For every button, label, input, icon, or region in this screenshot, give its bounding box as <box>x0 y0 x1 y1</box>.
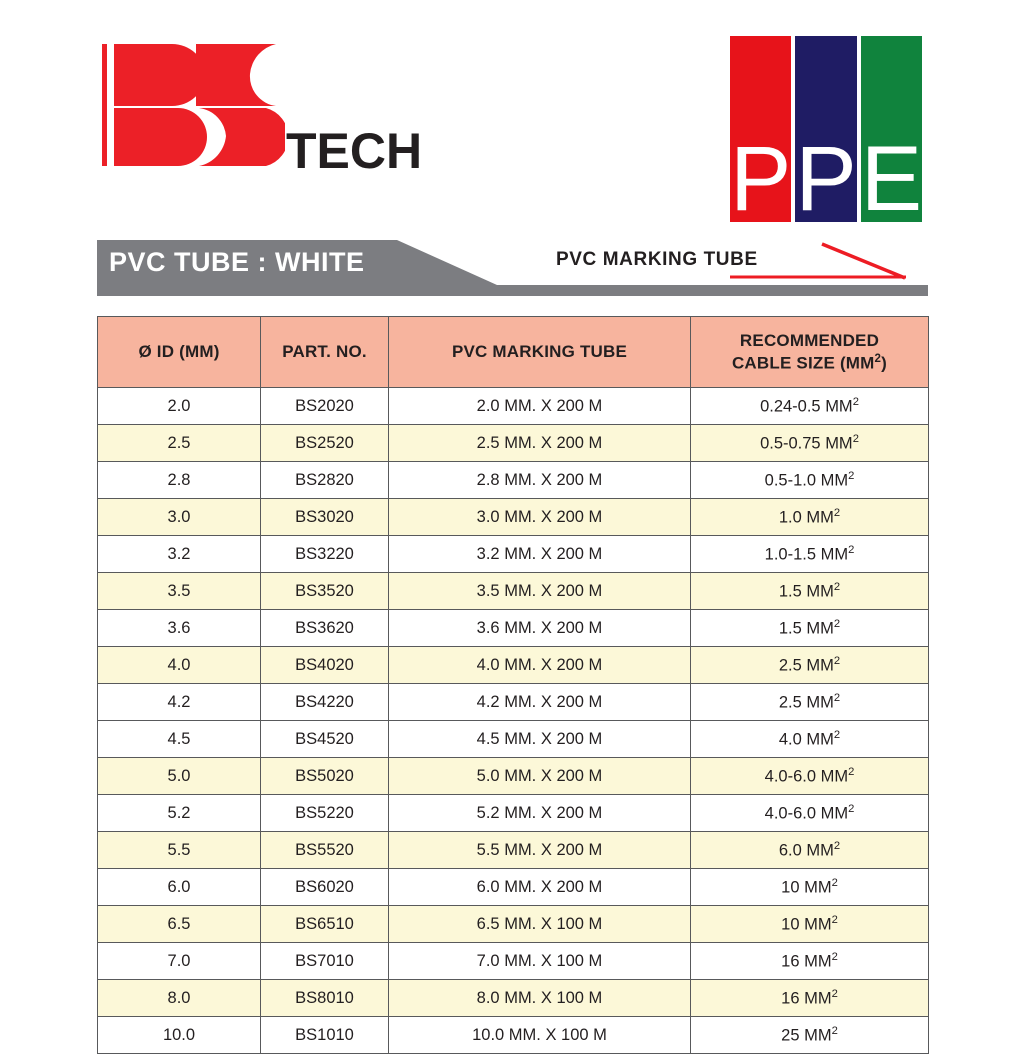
cell-tube: 6.5 MM. X 100 M <box>389 906 691 943</box>
cell-part: BS5220 <box>261 795 389 832</box>
cell-size: 0.24-0.5 MM2 <box>691 388 929 425</box>
bs-monogram-icon <box>100 40 285 170</box>
cell-id: 8.0 <box>98 980 261 1017</box>
cell-size-value: 2.5 MM <box>779 656 834 674</box>
section-banner: PVC TUBE : WHITE PVC MARKING TUBE <box>0 240 1024 296</box>
table-body: 2.0BS20202.0 MM. X 200 M0.24-0.5 MM22.5B… <box>98 388 929 1054</box>
cell-part: BS5020 <box>261 758 389 795</box>
cell-tube: 5.0 MM. X 200 M <box>389 758 691 795</box>
cell-part: BS7010 <box>261 943 389 980</box>
cell-size-value: 4.0-6.0 MM <box>765 767 848 785</box>
table-row: 3.5BS35203.5 MM. X 200 M1.5 MM2 <box>98 573 929 610</box>
table-row: 6.0BS60206.0 MM. X 200 M10 MM2 <box>98 869 929 906</box>
cell-size: 16 MM2 <box>691 943 929 980</box>
cell-id: 10.0 <box>98 1017 261 1054</box>
cell-id: 3.2 <box>98 536 261 573</box>
table-row: 4.2BS42204.2 MM. X 200 M2.5 MM2 <box>98 684 929 721</box>
cell-size-value: 0.5-1.0 MM <box>765 471 848 489</box>
cell-size: 1.5 MM2 <box>691 610 929 647</box>
cell-size-superscript: 2 <box>834 507 840 519</box>
cell-tube: 4.0 MM. X 200 M <box>389 647 691 684</box>
cell-tube: 6.0 MM. X 200 M <box>389 869 691 906</box>
cell-tube: 10.0 MM. X 100 M <box>389 1017 691 1054</box>
pvc-tube-spec-table: Ø ID (MM) PART. NO. PVC MARKING TUBE REC… <box>97 316 929 1054</box>
cell-size: 10 MM2 <box>691 906 929 943</box>
column-header-cable-size: RECOMMENDED CABLE SIZE (MM2) <box>691 317 929 388</box>
cell-size-value: 16 MM <box>781 952 831 970</box>
table-header-row: Ø ID (MM) PART. NO. PVC MARKING TUBE REC… <box>98 317 929 388</box>
cell-tube: 3.5 MM. X 200 M <box>389 573 691 610</box>
cell-tube: 2.5 MM. X 200 M <box>389 425 691 462</box>
table-row: 2.8BS28202.8 MM. X 200 M0.5-1.0 MM2 <box>98 462 929 499</box>
cell-tube: 3.2 MM. X 200 M <box>389 536 691 573</box>
cell-tube: 7.0 MM. X 100 M <box>389 943 691 980</box>
table-row: 6.5BS65106.5 MM. X 100 M10 MM2 <box>98 906 929 943</box>
cell-size-value: 4.0-6.0 MM <box>765 804 848 822</box>
cell-id: 5.2 <box>98 795 261 832</box>
cell-id: 4.5 <box>98 721 261 758</box>
table-row: 3.6BS36203.6 MM. X 200 M1.5 MM2 <box>98 610 929 647</box>
cell-id: 2.8 <box>98 462 261 499</box>
cell-part: BS8010 <box>261 980 389 1017</box>
cell-id: 7.0 <box>98 943 261 980</box>
cell-id: 2.0 <box>98 388 261 425</box>
cell-size-value: 0.5-0.75 MM <box>760 434 853 452</box>
cell-id: 3.0 <box>98 499 261 536</box>
ppe-column-navy: P <box>795 36 856 222</box>
cell-part: BS3220 <box>261 536 389 573</box>
cell-size: 4.0-6.0 MM2 <box>691 795 929 832</box>
column-header-marking-tube: PVC MARKING TUBE <box>389 317 691 388</box>
ppe-logo: P P E <box>730 36 920 222</box>
cell-size-superscript: 2 <box>832 988 838 1000</box>
banner-title-block: PVC TUBE : WHITE <box>97 240 497 285</box>
cell-size: 4.0 MM2 <box>691 721 929 758</box>
cell-size-superscript: 2 <box>848 470 854 482</box>
cell-size: 2.5 MM2 <box>691 647 929 684</box>
cell-size-value: 25 MM <box>781 1026 831 1044</box>
cell-size: 2.5 MM2 <box>691 684 929 721</box>
cell-size: 10 MM2 <box>691 869 929 906</box>
cell-id: 5.5 <box>98 832 261 869</box>
cell-id: 3.5 <box>98 573 261 610</box>
cell-size: 0.5-1.0 MM2 <box>691 462 929 499</box>
bs-tech-wordmark: TECH <box>286 126 422 176</box>
table-row: 4.5BS45204.5 MM. X 200 M4.0 MM2 <box>98 721 929 758</box>
cell-part: BS2520 <box>261 425 389 462</box>
cell-size-superscript: 2 <box>853 433 859 445</box>
cell-size-superscript: 2 <box>848 803 854 815</box>
cell-size: 1.5 MM2 <box>691 573 929 610</box>
cell-tube: 4.5 MM. X 200 M <box>389 721 691 758</box>
cell-part: BS6510 <box>261 906 389 943</box>
cell-tube: 8.0 MM. X 100 M <box>389 980 691 1017</box>
cable-size-line2: CABLE SIZE (MM <box>732 353 875 372</box>
cell-size-superscript: 2 <box>832 914 838 926</box>
column-header-part-no: PART. NO. <box>261 317 389 388</box>
cell-part: BS5520 <box>261 832 389 869</box>
cell-size: 1.0-1.5 MM2 <box>691 536 929 573</box>
cell-part: BS6020 <box>261 869 389 906</box>
banner-title: PVC TUBE : WHITE <box>97 247 365 278</box>
table-row: 2.0BS20202.0 MM. X 200 M0.24-0.5 MM2 <box>98 388 929 425</box>
cell-size-superscript: 2 <box>853 396 859 408</box>
cell-tube: 5.5 MM. X 200 M <box>389 832 691 869</box>
cell-part: BS3620 <box>261 610 389 647</box>
cell-size: 6.0 MM2 <box>691 832 929 869</box>
table-row: 3.0BS30203.0 MM. X 200 M1.0 MM2 <box>98 499 929 536</box>
table-row: 8.0BS80108.0 MM. X 100 M16 MM2 <box>98 980 929 1017</box>
cell-size: 16 MM2 <box>691 980 929 1017</box>
cell-size-superscript: 2 <box>832 1025 838 1037</box>
cell-size-superscript: 2 <box>834 581 840 593</box>
table-row: 5.5BS55205.5 MM. X 200 M6.0 MM2 <box>98 832 929 869</box>
cell-size-superscript: 2 <box>834 655 840 667</box>
cell-part: BS4020 <box>261 647 389 684</box>
cell-size-superscript: 2 <box>834 840 840 852</box>
cell-id: 3.6 <box>98 610 261 647</box>
ppe-column-red: P <box>730 36 791 222</box>
red-angle-accent-icon <box>700 240 930 285</box>
cell-size-superscript: 2 <box>834 692 840 704</box>
ppe-letter-1: P <box>730 137 791 222</box>
cell-part: BS3020 <box>261 499 389 536</box>
table-row: 2.5BS25202.5 MM. X 200 M0.5-0.75 MM2 <box>98 425 929 462</box>
cell-size-superscript: 2 <box>832 951 838 963</box>
cell-id: 4.0 <box>98 647 261 684</box>
cell-tube: 5.2 MM. X 200 M <box>389 795 691 832</box>
cable-size-line1: RECOMMENDED <box>740 331 879 350</box>
cell-size-value: 1.5 MM <box>779 582 834 600</box>
cell-size: 25 MM2 <box>691 1017 929 1054</box>
cell-id: 5.0 <box>98 758 261 795</box>
header-logo-row: TECH P P E <box>0 0 1024 236</box>
cell-size: 1.0 MM2 <box>691 499 929 536</box>
cell-part: BS4520 <box>261 721 389 758</box>
cell-size-value: 1.5 MM <box>779 619 834 637</box>
cell-size-superscript: 2 <box>834 618 840 630</box>
cell-size-value: 2.5 MM <box>779 693 834 711</box>
cell-size-value: 4.0 MM <box>779 730 834 748</box>
table-row: 5.0BS50205.0 MM. X 200 M4.0-6.0 MM2 <box>98 758 929 795</box>
cell-size: 0.5-0.75 MM2 <box>691 425 929 462</box>
cell-size-value: 6.0 MM <box>779 841 834 859</box>
table-row: 10.0BS101010.0 MM. X 100 M25 MM2 <box>98 1017 929 1054</box>
cell-size: 4.0-6.0 MM2 <box>691 758 929 795</box>
cell-size-value: 16 MM <box>781 989 831 1007</box>
cell-tube: 2.0 MM. X 200 M <box>389 388 691 425</box>
table-row: 7.0BS70107.0 MM. X 100 M16 MM2 <box>98 943 929 980</box>
cell-size-superscript: 2 <box>848 544 854 556</box>
table-row: 5.2BS52205.2 MM. X 200 M4.0-6.0 MM2 <box>98 795 929 832</box>
cell-id: 4.2 <box>98 684 261 721</box>
column-header-id: Ø ID (MM) <box>98 317 261 388</box>
cell-part: BS4220 <box>261 684 389 721</box>
cell-tube: 2.8 MM. X 200 M <box>389 462 691 499</box>
table-row: 3.2BS32203.2 MM. X 200 M1.0-1.5 MM2 <box>98 536 929 573</box>
cell-size-superscript: 2 <box>848 766 854 778</box>
table-header: Ø ID (MM) PART. NO. PVC MARKING TUBE REC… <box>98 317 929 388</box>
cable-size-line3: ) <box>881 353 887 372</box>
cell-size-superscript: 2 <box>834 729 840 741</box>
cell-part: BS2020 <box>261 388 389 425</box>
cell-tube: 3.6 MM. X 200 M <box>389 610 691 647</box>
banner-underbar <box>97 285 928 296</box>
cell-id: 6.0 <box>98 869 261 906</box>
cell-tube: 4.2 MM. X 200 M <box>389 684 691 721</box>
cell-size-value: 10 MM <box>781 915 831 933</box>
bs-tech-logo: TECH <box>100 40 450 170</box>
cell-size-value: 1.0-1.5 MM <box>765 545 848 563</box>
cell-part: BS1010 <box>261 1017 389 1054</box>
cell-size-superscript: 2 <box>832 877 838 889</box>
cell-size-value: 1.0 MM <box>779 508 834 526</box>
ppe-column-green: E <box>861 36 922 222</box>
ppe-letter-2: P <box>795 137 856 222</box>
cell-size-value: 0.24-0.5 MM <box>760 397 853 415</box>
table-row: 4.0BS40204.0 MM. X 200 M2.5 MM2 <box>98 647 929 684</box>
cell-id: 2.5 <box>98 425 261 462</box>
cell-part: BS2820 <box>261 462 389 499</box>
cell-size-value: 10 MM <box>781 878 831 896</box>
cell-tube: 3.0 MM. X 200 M <box>389 499 691 536</box>
ppe-letter-3: E <box>861 137 922 222</box>
cell-id: 6.5 <box>98 906 261 943</box>
cell-part: BS3520 <box>261 573 389 610</box>
